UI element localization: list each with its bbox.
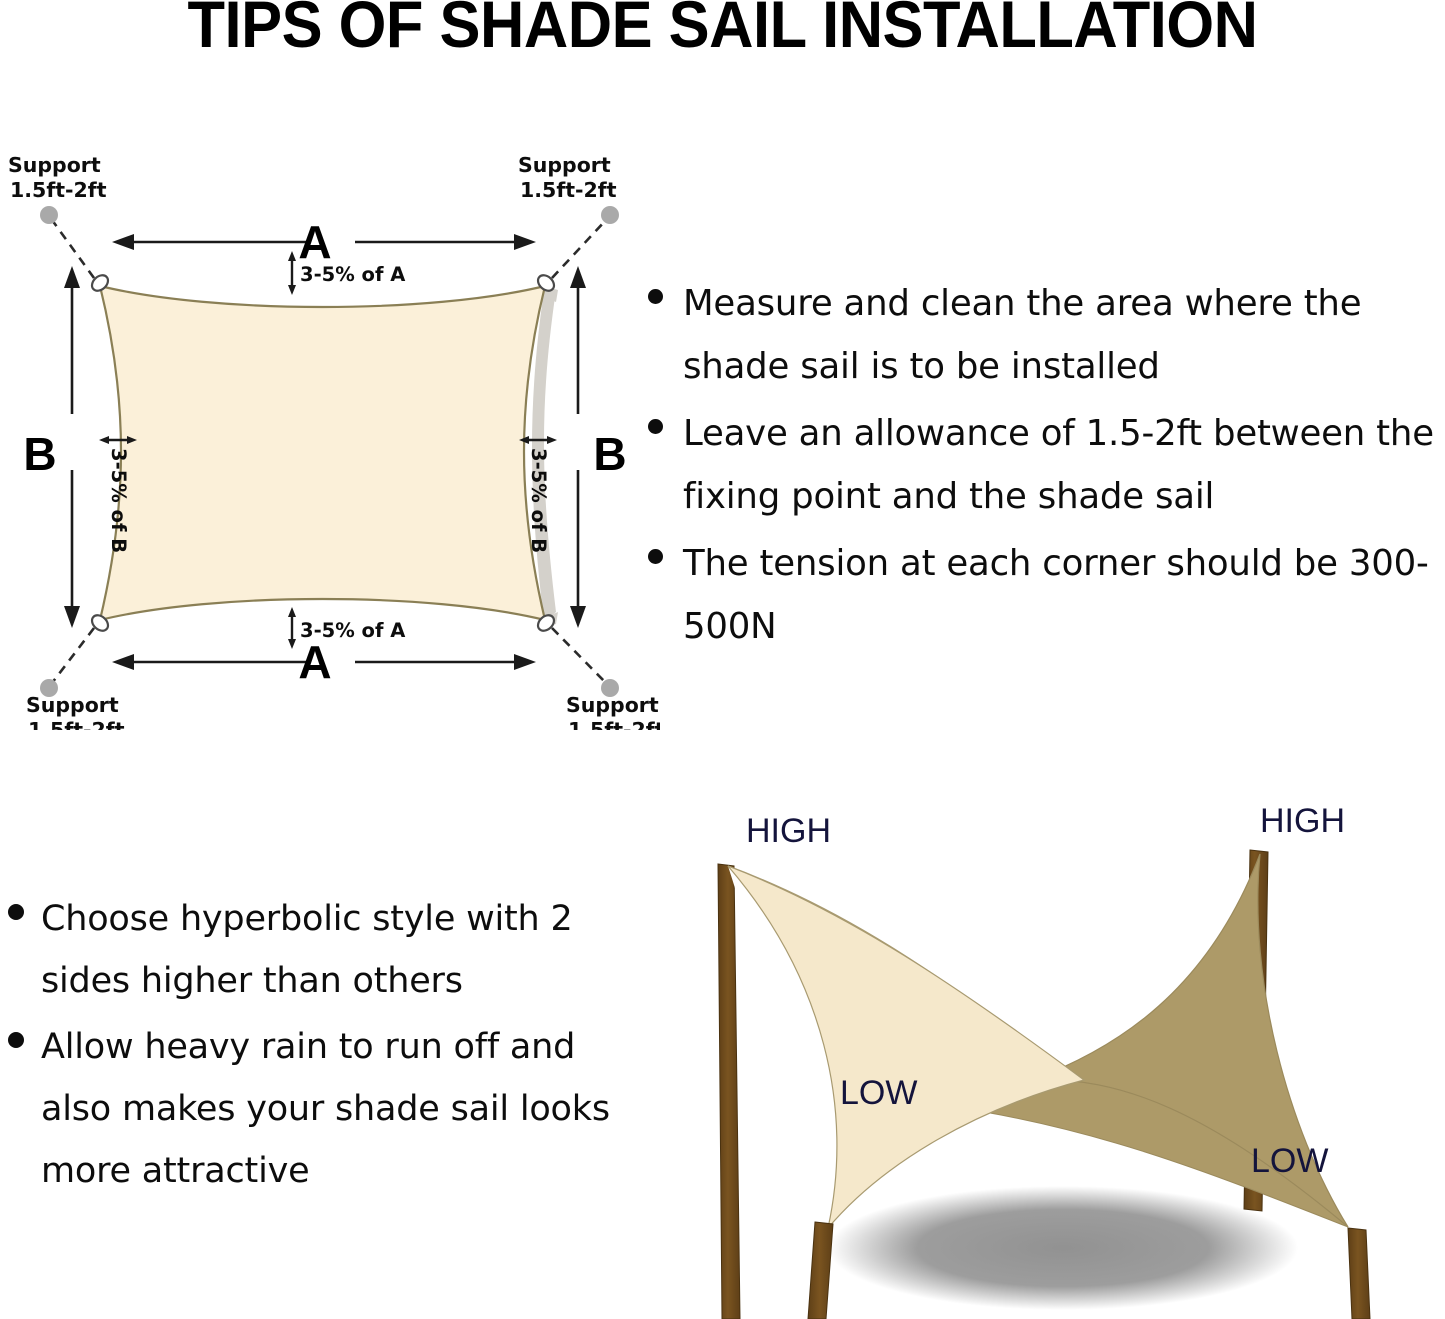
label-high-left: HIGH: [746, 812, 831, 850]
installation-tips-top-list: Measure and clean the area where the sha…: [648, 272, 1445, 662]
list-item: Measure and clean the area where the sha…: [648, 272, 1445, 398]
list-item: Allow heavy rain to run off and also mak…: [8, 1016, 628, 1202]
bullet-icon: [648, 549, 663, 564]
list-item-text: Leave an allowance of 1.5-2ft between th…: [683, 402, 1445, 528]
list-item: The tension at each corner should be 300…: [648, 532, 1445, 658]
hyperbolic-shade-sail-illustration: HIGH HIGH LOW LOW: [648, 780, 1445, 1319]
title-bar: TIPS OF SHADE SAIL INSTALLATION: [0, 0, 1445, 62]
post-low-left: [808, 1222, 833, 1319]
page-title: TIPS OF SHADE SAIL INSTALLATION: [51, 0, 1395, 62]
dimension-b-right: B: [570, 266, 627, 628]
label-high-right: HIGH: [1260, 802, 1345, 840]
bullet-icon: [8, 904, 24, 920]
support-label-top-left-line1: Support: [8, 153, 101, 177]
bullet-icon: [8, 1032, 24, 1048]
bullet-icon: [648, 419, 663, 434]
curve-depth-b-left-label: 3-5% of B: [107, 448, 130, 553]
support-label-bottom-left-line1: Support: [26, 693, 119, 717]
post-high-left: [718, 864, 740, 1319]
shade-sail-dimension-diagram: Support 1.5ft-2ft Support 1.5ft-2ft Supp…: [0, 150, 660, 730]
list-item: Choose hyperbolic style with 2 sides hig…: [8, 888, 628, 1012]
support-dot-top-left: [40, 206, 58, 224]
sail-body: [100, 286, 545, 620]
support-line-bottom-left: [52, 628, 94, 683]
support-dot-top-right: [601, 206, 619, 224]
support-label-bottom-right-line1: Support: [566, 693, 659, 717]
list-item-text: Measure and clean the area where the sha…: [683, 272, 1445, 398]
ground-shadow: [828, 1186, 1298, 1310]
list-item-text: The tension at each corner should be 300…: [683, 532, 1445, 658]
curve-depth-b-right-label: 3-5% of B: [527, 448, 550, 553]
installation-tips-bottom-list: Choose hyperbolic style with 2 sides hig…: [8, 888, 628, 1206]
hyperbolic-sail-svg: HIGH HIGH LOW LOW: [648, 780, 1445, 1319]
dimension-b-right-label: B: [593, 428, 626, 480]
curve-depth-a-bottom-label: 3-5% of A: [300, 619, 405, 642]
support-label-top-right-line2: 1.5ft-2ft: [520, 178, 617, 202]
dimension-a-bottom: A: [112, 636, 536, 688]
support-label-top-left-line2: 1.5ft-2ft: [10, 178, 107, 202]
label-low-right: LOW: [1251, 1142, 1328, 1180]
sail-diagram-svg: Support 1.5ft-2ft Support 1.5ft-2ft Supp…: [0, 150, 660, 730]
dimension-a-bottom-label: A: [298, 636, 331, 688]
list-item-text: Choose hyperbolic style with 2 sides hig…: [41, 888, 628, 1012]
label-low-left: LOW: [840, 1074, 917, 1112]
post-low-right: [1348, 1228, 1370, 1319]
support-line-bottom-right: [552, 628, 606, 683]
dimension-b-left-label: B: [23, 428, 56, 480]
support-label-bottom-right-line2: 1.5ft-2ft: [568, 718, 660, 730]
support-label-bottom-left-line2: 1.5ft-2ft: [28, 718, 125, 730]
list-item: Leave an allowance of 1.5-2ft between th…: [648, 402, 1445, 528]
dimension-a-top: A: [112, 216, 536, 268]
bullet-icon: [648, 289, 663, 304]
dimension-b-left: B: [23, 266, 80, 628]
list-item-text: Allow heavy rain to run off and also mak…: [41, 1016, 628, 1202]
dimension-a-top-label: A: [298, 216, 331, 268]
curve-depth-a-top-label: 3-5% of A: [300, 263, 405, 286]
support-label-top-right-line1: Support: [518, 153, 611, 177]
